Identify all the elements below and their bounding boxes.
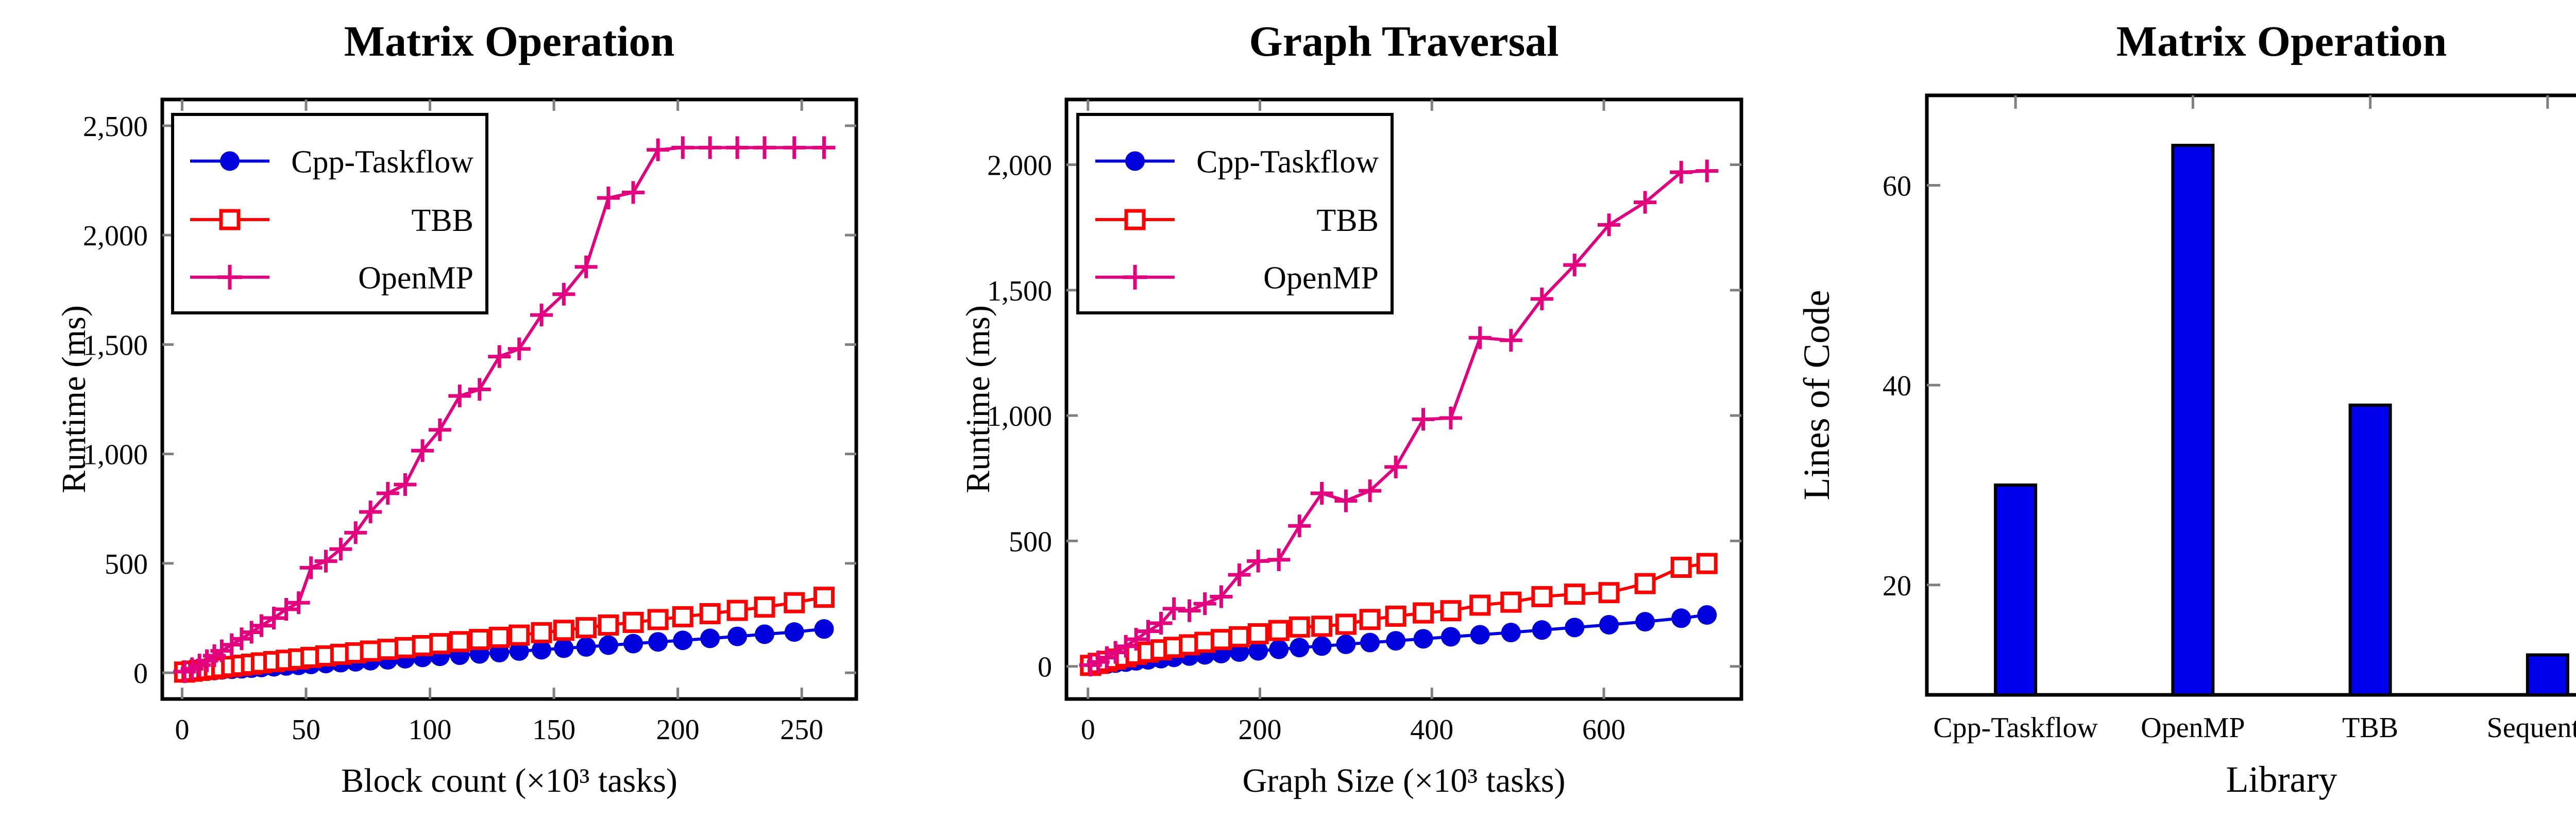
data-point [1360, 633, 1380, 653]
x-tick-label: 400 [1410, 714, 1453, 746]
data-point [1414, 629, 1433, 648]
bar-openmp [2173, 145, 2213, 695]
data-point [1291, 618, 1308, 636]
data-point [671, 136, 694, 159]
y-tick-label: 60 [1883, 170, 1911, 202]
bar-tbb [2350, 405, 2391, 695]
data-point [1470, 625, 1490, 644]
data-point [1698, 555, 1716, 572]
data-point [448, 385, 471, 407]
data-point [1671, 608, 1691, 628]
data-point [1533, 588, 1551, 605]
y-tick-label: 0 [1038, 652, 1052, 684]
data-point [648, 632, 668, 652]
data-point [1566, 586, 1583, 603]
data-point [508, 338, 531, 360]
data-point [600, 617, 617, 634]
y-tick-label: 2,000 [987, 150, 1052, 182]
data-point [577, 637, 596, 657]
data-point [471, 631, 488, 648]
data-point [1469, 326, 1492, 349]
data-point [786, 594, 803, 611]
data-point [451, 633, 468, 651]
data-point [1270, 622, 1287, 639]
legend-label-0: Cpp-Taskflow [291, 144, 473, 179]
data-point [554, 639, 573, 658]
x-axis-label: Library [2226, 759, 2337, 800]
data-point [1334, 490, 1357, 512]
data-point [1500, 329, 1522, 352]
data-point [815, 589, 833, 606]
data-point [727, 627, 747, 646]
data-point [597, 187, 620, 209]
data-point [468, 378, 491, 401]
data-point [362, 642, 379, 660]
legend-marker-square [221, 211, 239, 228]
data-point [555, 622, 572, 639]
x-tick-label: 150 [532, 714, 575, 746]
data-point [755, 624, 774, 644]
x-category-label-1: OpenMP [2141, 712, 2245, 744]
data-point [1636, 575, 1654, 592]
bar-sequential [2528, 655, 2568, 695]
data-point [1387, 607, 1404, 625]
data-point [1415, 604, 1432, 622]
data-point [783, 136, 806, 159]
x-tick-label: 600 [1582, 714, 1625, 746]
data-point [1269, 640, 1289, 659]
chart-svg: Graph Traversal05001,0001,5002,000020040… [902, 0, 1777, 816]
y-tick-label: 2,000 [83, 220, 148, 252]
data-point [1501, 623, 1521, 642]
x-category-label-2: TBB [2342, 712, 2398, 744]
data-point [1311, 482, 1333, 505]
legend-marker-square [1126, 211, 1144, 228]
legend-marker-circle [1125, 151, 1145, 171]
x-tick-label: 250 [780, 714, 823, 746]
data-point [1230, 628, 1248, 645]
y-axis-label: Runtime (ms) [55, 305, 93, 493]
data-point [623, 634, 643, 654]
data-point [379, 641, 397, 658]
data-point [1312, 636, 1332, 656]
legend-label-2: OpenMP [1263, 261, 1379, 296]
data-point [812, 136, 835, 159]
data-point [578, 619, 595, 637]
data-point [1439, 407, 1462, 429]
data-point [1361, 611, 1379, 628]
data-point [699, 136, 721, 159]
bar-cpp-taskflow [1995, 485, 2036, 695]
legend-marker-circle [220, 151, 240, 171]
data-point [753, 136, 776, 159]
panel-title: Matrix Operation [2116, 18, 2447, 65]
data-point [814, 619, 834, 639]
data-point [511, 626, 528, 644]
x-category-label-0: Cpp-Taskflow [1933, 712, 2098, 744]
data-point [1290, 638, 1309, 657]
data-point [533, 624, 550, 641]
data-point [1288, 514, 1311, 537]
data-point [1600, 584, 1618, 602]
x-tick-label: 0 [175, 714, 189, 746]
data-point [1336, 635, 1355, 654]
data-point [488, 345, 511, 368]
data-point [1412, 408, 1435, 430]
data-point [431, 635, 449, 653]
data-point [649, 611, 667, 628]
y-tick-label: 20 [1883, 570, 1911, 602]
data-point [1532, 620, 1552, 640]
data-point [1471, 596, 1489, 614]
data-point [622, 181, 645, 204]
x-category-label-3: Sequential [2487, 712, 2576, 744]
data-point [490, 628, 508, 646]
x-axis-label: Graph Size (×10³ tasks) [1242, 762, 1565, 800]
data-point [728, 602, 746, 619]
x-tick-label: 0 [1081, 714, 1095, 746]
x-tick-label: 100 [409, 714, 452, 746]
legend-label-1: TBB [411, 203, 473, 238]
panel-title: Graph Traversal [1249, 18, 1558, 65]
x-axis-label: Block count (×10³ tasks) [341, 762, 677, 800]
data-point [1337, 615, 1354, 633]
chart-panel-graph-traversal-runtime: Graph Traversal05001,0001,5002,000020040… [902, 0, 1777, 816]
data-point [674, 608, 691, 625]
y-tick-label: 1,500 [987, 275, 1052, 307]
x-tick-label: 200 [656, 714, 700, 746]
y-axis-label: Runtime (ms) [959, 305, 997, 493]
data-point [624, 613, 642, 631]
data-point [1441, 627, 1461, 646]
data-point [1696, 160, 1718, 182]
data-point [726, 136, 749, 159]
data-point [1565, 618, 1584, 637]
y-tick-label: 40 [1883, 370, 1911, 402]
data-point [414, 637, 431, 654]
data-point [785, 622, 804, 642]
data-point [1212, 631, 1230, 648]
data-point [396, 639, 414, 656]
legend-label-0: Cpp-Taskflow [1196, 144, 1379, 179]
figure-root: Matrix Operation05001,0001,5002,0002,500… [0, 0, 2576, 816]
data-point [701, 605, 719, 622]
chart-panel-matrix-operation-runtime: Matrix Operation05001,0001,5002,0002,500… [0, 0, 902, 816]
x-tick-label: 200 [1238, 714, 1281, 746]
y-tick-label: 500 [105, 548, 148, 580]
data-point [673, 630, 692, 650]
data-point [647, 139, 669, 161]
data-point [1267, 548, 1290, 571]
data-point [1502, 593, 1520, 611]
y-tick-label: 500 [1009, 526, 1052, 558]
data-point [1442, 602, 1460, 620]
data-point [1672, 559, 1690, 576]
chart-svg: Matrix Operation204060Cpp-TaskflowOpenMP… [1777, 0, 2576, 816]
data-point [1599, 615, 1619, 635]
data-point [700, 628, 720, 648]
legend-label-1: TBB [1316, 203, 1379, 238]
y-tick-label: 0 [133, 658, 148, 690]
data-point [1249, 625, 1267, 642]
data-point [221, 634, 243, 656]
data-point [1313, 618, 1331, 635]
data-point [1247, 549, 1269, 572]
chart-svg: Matrix Operation05001,0001,5002,0002,500… [0, 0, 902, 816]
y-tick-label: 2,500 [83, 111, 148, 143]
chart-panel-matrix-operation-loc: Matrix Operation204060Cpp-TaskflowOpenMP… [1777, 0, 2576, 816]
y-axis-label: Lines of Code [1796, 290, 1837, 501]
panel-title: Matrix Operation [344, 18, 675, 65]
data-point [1386, 631, 1405, 651]
data-point [756, 598, 773, 616]
x-tick-label: 50 [292, 714, 320, 746]
legend-label-2: OpenMP [358, 261, 473, 296]
data-point [1697, 605, 1717, 625]
data-point [1635, 612, 1655, 631]
data-point [599, 636, 618, 655]
